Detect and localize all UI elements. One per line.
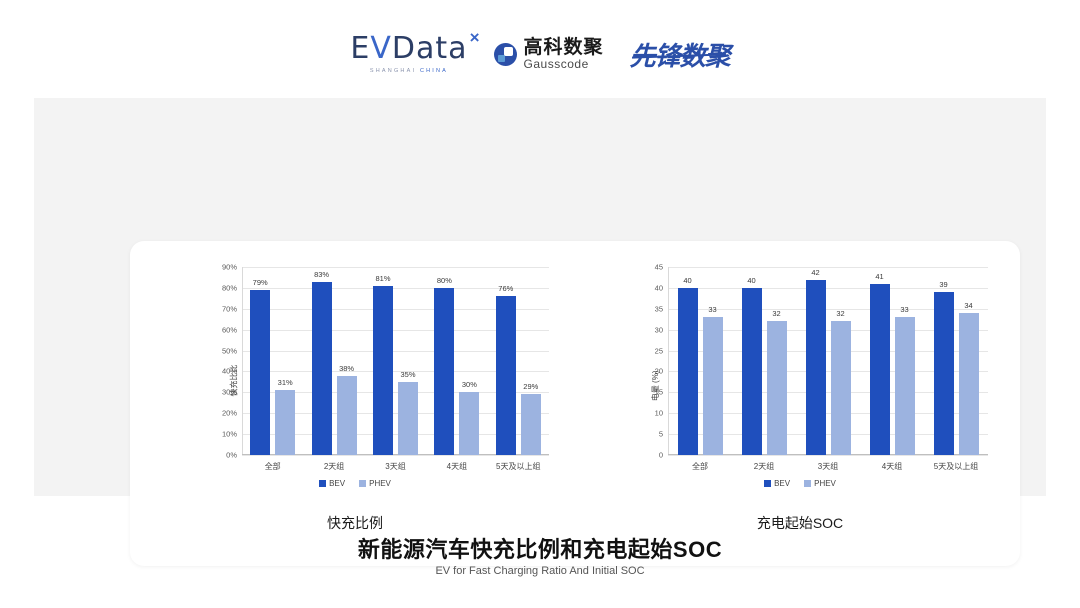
evdata-logo: EVData × SHANGHAI CHINA	[350, 34, 467, 74]
bar-value-label: 29%	[523, 382, 538, 391]
x-axis-tick: 4天组	[447, 461, 467, 472]
bar-value-label: 40	[683, 276, 691, 285]
legend-swatch-phev	[804, 480, 811, 487]
chart-fast-charging-ratio: 0%10%20%30%40%50%60%70%80%90%79%31%全部83%…	[130, 241, 580, 566]
bar-value-label: 35%	[400, 370, 415, 379]
y-axis-tick: 30	[655, 325, 663, 334]
plot-area-right: 0510152025303540454033全部40322天组42323天组41…	[668, 267, 988, 455]
legend-item-phev: PHEV	[359, 479, 391, 488]
chart-title-left: 快充比例	[130, 513, 580, 533]
plot-area-left: 0%10%20%30%40%50%60%70%80%90%79%31%全部83%…	[242, 267, 549, 455]
cross-icon: ×	[470, 28, 480, 48]
bar-value-label: 34	[964, 301, 972, 310]
bar-value-label: 80%	[437, 276, 452, 285]
x-axis-tick: 5天及以上组	[496, 461, 540, 472]
bar-bev: 79%	[250, 290, 270, 455]
bar-group: 76%29%5天及以上组	[488, 267, 549, 455]
bar-phev: 30%	[459, 392, 479, 455]
y-axis-tick: 25	[655, 346, 663, 355]
bar-bev: 76%	[496, 296, 516, 455]
evdata-sub-left: SHANGHAI	[370, 68, 420, 74]
y-axis-tick: 60%	[222, 325, 237, 334]
charts-card: 0%10%20%30%40%50%60%70%80%90%79%31%全部83%…	[130, 241, 1020, 566]
bar-bev: 39	[934, 292, 954, 455]
bar-value-label: 31%	[278, 378, 293, 387]
evdata-sub-cn: CHINA	[420, 68, 448, 74]
legend-item-phev: PHEV	[804, 479, 836, 488]
y-axis-tick: 90%	[222, 263, 237, 272]
bar-group: 40322天组	[732, 267, 796, 455]
legend-swatch-bev	[319, 480, 326, 487]
bar-group: 80%30%4天组	[426, 267, 487, 455]
legend-label-phev: PHEV	[369, 479, 391, 488]
evdata-word-v: V	[370, 31, 392, 66]
y-axis-tick: 35	[655, 304, 663, 313]
bar-phev: 38%	[337, 376, 357, 455]
bar-group: 4033全部	[668, 267, 732, 455]
bar-group: 83%38%2天组	[303, 267, 364, 455]
y-axis-tick: 45	[655, 263, 663, 272]
page-title: 新能源汽车快充比例和充电起始SOC	[0, 532, 1080, 564]
y-axis-tick: 0	[659, 451, 663, 460]
bar-value-label: 32	[836, 309, 844, 318]
bar-phev: 35%	[398, 382, 418, 455]
bar-value-label: 32	[772, 309, 780, 318]
chart-initial-soc: 0510152025303540454033全部40322天组42323天组41…	[580, 241, 1020, 566]
evdata-wordmark: EVData	[350, 34, 467, 64]
bar-bev: 83%	[312, 282, 332, 455]
bar-value-label: 33	[900, 305, 908, 314]
legend-item-bev: BEV	[319, 479, 345, 488]
x-axis-tick: 2天组	[324, 461, 344, 472]
gausscode-name-cn: 高科数聚	[524, 38, 604, 58]
legend-label-phev: PHEV	[814, 479, 836, 488]
y-axis-tick: 20%	[222, 409, 237, 418]
gridline	[242, 455, 549, 456]
bar-bev: 80%	[434, 288, 454, 455]
y-axis-tick: 80%	[222, 283, 237, 292]
chart-title-right: 充电起始SOC	[580, 513, 1020, 533]
xianfeng-logo: 先锋数聚	[630, 36, 730, 73]
evdata-word-right: Data	[392, 31, 468, 66]
bar-phev: 31%	[275, 390, 295, 455]
bar-bev: 40	[742, 288, 762, 455]
x-axis-tick: 2天组	[754, 461, 774, 472]
bar-value-label: 33	[708, 305, 716, 314]
bar-group: 41334天组	[860, 267, 924, 455]
legend-label-bev: BEV	[329, 479, 345, 488]
slide-page: EVData × SHANGHAI CHINA 高科数聚 Gausscode 先…	[0, 0, 1080, 608]
x-axis-tick: 全部	[692, 461, 708, 472]
y-axis-tick: 40	[655, 283, 663, 292]
x-axis-tick: 5天及以上组	[934, 461, 978, 472]
y-axis-tick: 5	[659, 430, 663, 439]
gausscode-mark-icon	[494, 43, 517, 66]
content-panel: 0%10%20%30%40%50%60%70%80%90%79%31%全部83%…	[34, 98, 1046, 496]
bar-value-label: 83%	[314, 270, 329, 279]
bar-bev: 42	[806, 280, 826, 455]
evdata-word-left: E	[350, 31, 370, 66]
page-subtitle: EV for Fast Charging Ratio And Initial S…	[0, 565, 1080, 577]
bar-phev: 32	[831, 321, 851, 455]
bar-phev: 33	[895, 317, 915, 455]
bar-bev: 40	[678, 288, 698, 455]
bar-bev: 81%	[373, 286, 393, 455]
bar-phev: 32	[767, 321, 787, 455]
legend-item-bev: BEV	[764, 479, 790, 488]
x-axis-tick: 全部	[265, 461, 281, 472]
bar-phev: 34	[959, 313, 979, 455]
bar-bev: 41	[870, 284, 890, 455]
legend-left: BEVPHEV	[130, 479, 580, 488]
bar-value-label: 42	[811, 268, 819, 277]
y-axis-tick: 10	[655, 409, 663, 418]
y-axis-label-left: 快充比比	[229, 365, 240, 397]
gridline	[668, 455, 988, 456]
bar-value-label: 38%	[339, 364, 354, 373]
bar-value-label: 30%	[462, 380, 477, 389]
bar-value-label: 81%	[375, 274, 390, 283]
bar-group: 39345天及以上组	[924, 267, 988, 455]
bar-value-label: 79%	[253, 278, 268, 287]
y-axis-tick: 0%	[226, 451, 237, 460]
logo-bar: EVData × SHANGHAI CHINA 高科数聚 Gausscode 先…	[0, 26, 1080, 82]
gausscode-logo: 高科数聚 Gausscode	[494, 38, 604, 71]
legend-label-bev: BEV	[774, 479, 790, 488]
evdata-subtitle: SHANGHAI CHINA	[370, 68, 448, 74]
bar-value-label: 40	[747, 276, 755, 285]
y-axis-tick: 70%	[222, 304, 237, 313]
gausscode-text: 高科数聚 Gausscode	[524, 38, 604, 71]
bar-phev: 29%	[521, 394, 541, 455]
x-axis-tick: 3天组	[818, 461, 838, 472]
gausscode-name-en: Gausscode	[524, 58, 604, 71]
legend-swatch-phev	[359, 480, 366, 487]
bar-group: 79%31%全部	[242, 267, 303, 455]
bar-value-label: 76%	[498, 284, 513, 293]
bar-phev: 33	[703, 317, 723, 455]
y-axis-label-right: 电量 (%)	[650, 371, 661, 402]
y-axis-tick: 50%	[222, 346, 237, 355]
y-axis-tick: 10%	[222, 430, 237, 439]
bar-group: 42323天组	[796, 267, 860, 455]
legend-right: BEVPHEV	[580, 479, 1020, 488]
x-axis-tick: 4天组	[882, 461, 902, 472]
bar-value-label: 41	[875, 272, 883, 281]
bar-value-label: 39	[939, 280, 947, 289]
bar-group: 81%35%3天组	[365, 267, 426, 455]
legend-swatch-bev	[764, 480, 771, 487]
x-axis-tick: 3天组	[385, 461, 405, 472]
